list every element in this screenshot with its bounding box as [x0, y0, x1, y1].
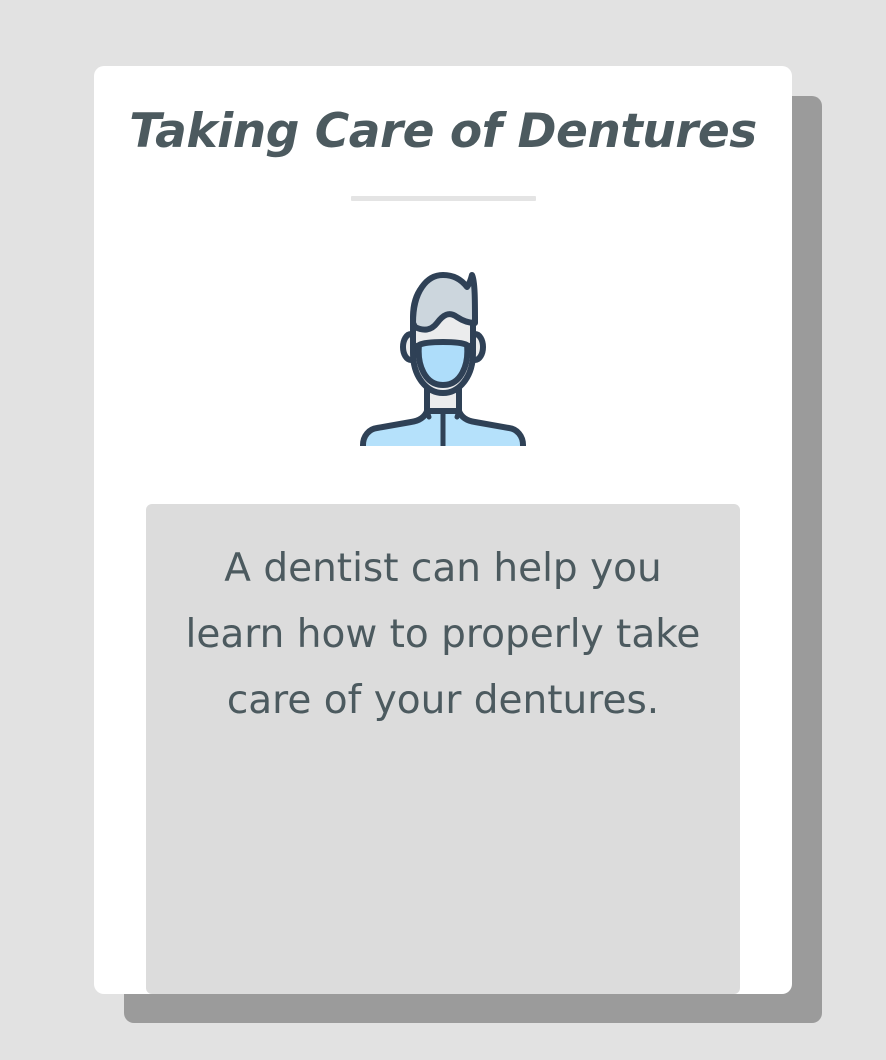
- body-text: A dentist can help you learn how to prop…: [176, 536, 710, 734]
- body-text-panel: A dentist can help you learn how to prop…: [146, 504, 740, 994]
- page-title: Taking Care of Dentures: [94, 104, 792, 159]
- content-card: Taking Care of Dentures: [94, 66, 792, 994]
- dentist-with-mask-icon: [349, 261, 537, 446]
- slide-stage: Taking Care of Dentures: [0, 0, 886, 1060]
- title-divider: [351, 196, 536, 201]
